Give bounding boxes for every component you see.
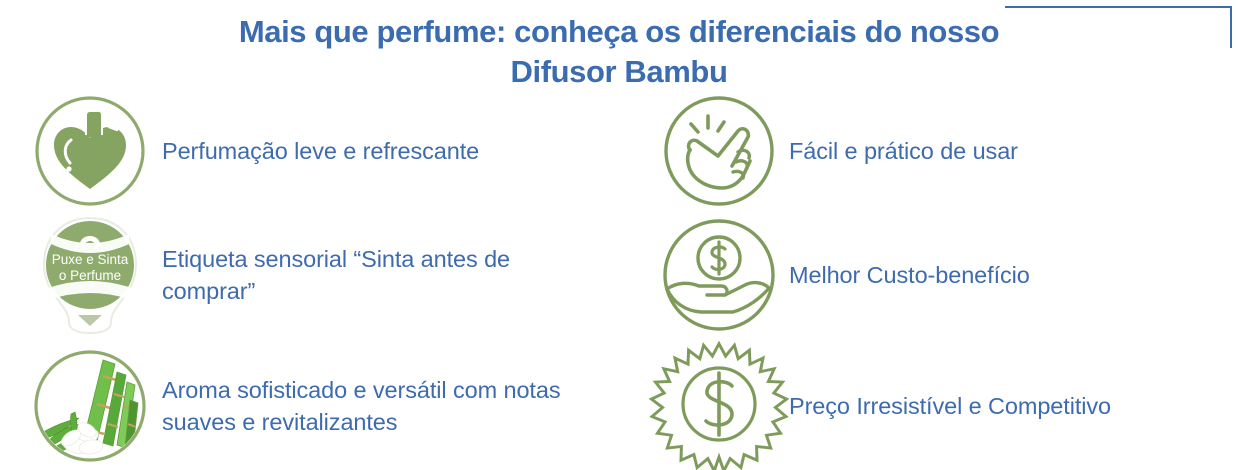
bamboo-stalks-icon [28, 347, 152, 465]
feature-label-line-2: suaves e revitalizantes [162, 409, 397, 435]
feature-label: Perfumação leve e refrescante [152, 135, 479, 167]
feature-item: Aroma sofisticado e versátil com notas s… [28, 342, 648, 469]
page-title-line-2: Difusor Bambu [0, 52, 1238, 92]
page-title: Mais que perfume: conheça os diferenciai… [0, 12, 1238, 92]
feature-item: Perfumação leve e refrescante [28, 92, 648, 210]
feature-item: Puxe e Sinta o Perfume Etiqueta sensoria… [28, 214, 648, 336]
features-grid: Perfumação leve e refrescante Puxe e Sin… [0, 92, 1238, 469]
feature-label: Fácil e prático de usar [783, 135, 1018, 167]
badge-text-line-2: o Perfume [59, 268, 121, 283]
feature-label: Aroma sofisticado e versátil com notas s… [152, 374, 560, 438]
badge-text-line-1: Puxe e Sinta [52, 252, 129, 267]
feature-label-line-1: Aroma sofisticado e versátil com notas [162, 377, 560, 403]
hand-holding-coin-icon [655, 213, 783, 337]
feature-label: Melhor Custo-benefício [783, 259, 1030, 291]
page-title-line-1: Mais que perfume: conheça os diferenciai… [0, 12, 1238, 52]
feature-item: Melhor Custo-benefício [655, 214, 1238, 336]
feature-label-line-2: comprar” [162, 278, 255, 304]
starburst-dollar-badge-icon [655, 344, 783, 468]
tap-hand-gesture-icon [655, 89, 783, 213]
feature-label: Etiqueta sensorial “Sinta antes de compr… [152, 243, 510, 307]
sensory-label-tag-icon: Puxe e Sinta o Perfume [28, 216, 152, 334]
heart-perfume-bottle-icon [28, 92, 152, 210]
feature-label-line-1: Etiqueta sensorial “Sinta antes de [162, 246, 510, 272]
feature-item: Preço Irresistível e Competitivo [655, 342, 1238, 469]
feature-label: Preço Irresistível e Competitivo [783, 390, 1111, 422]
feature-item: Fácil e prático de usar [655, 92, 1238, 210]
